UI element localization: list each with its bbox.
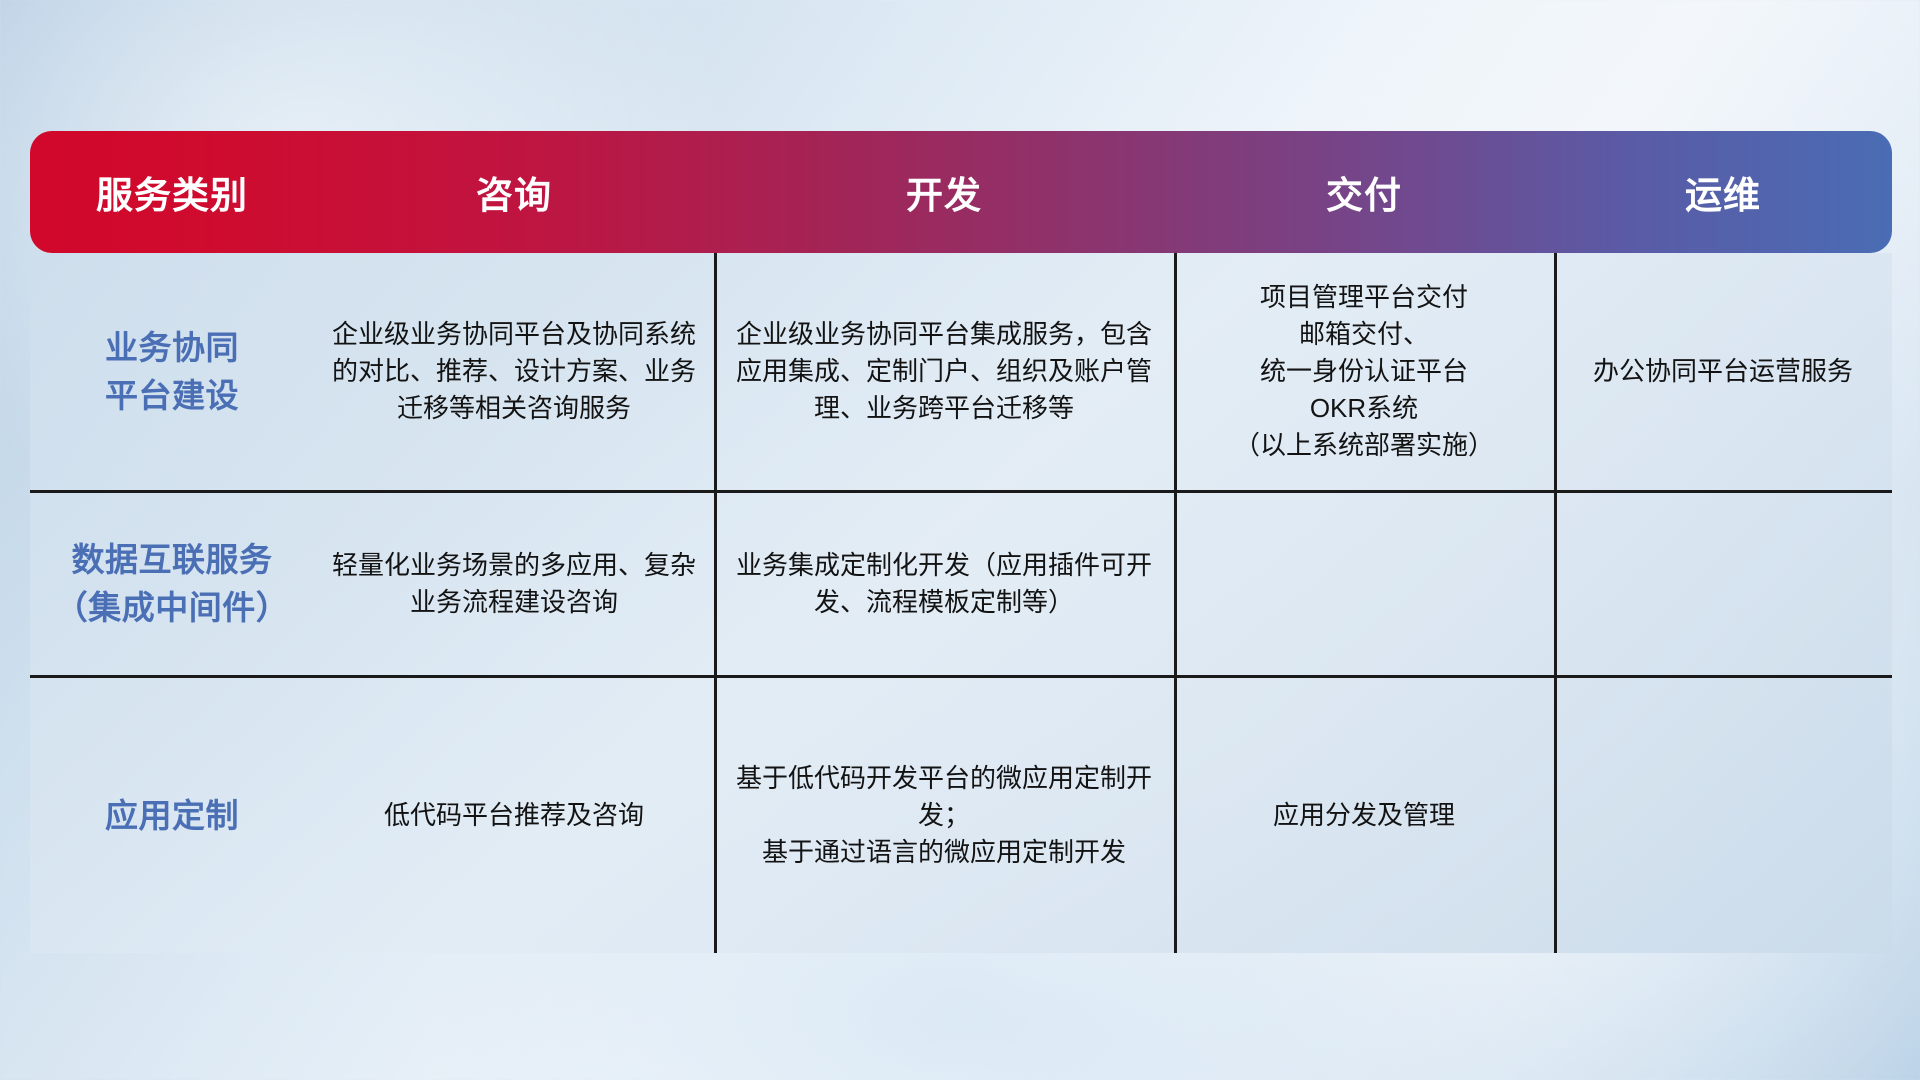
cell-text: 应用分发及管理 (1273, 797, 1455, 834)
cell-consulting: 企业级业务协同平台及协同系统的对比、推荐、设计方案、业务迁移等相关咨询服务 (314, 253, 714, 490)
table-body: 业务协同 平台建设 企业级业务协同平台及协同系统的对比、推荐、设计方案、业务迁移… (30, 253, 1892, 953)
table-row: 数据互联服务 （集成中间件） 轻量化业务场景的多应用、复杂业务流程建设咨询 业务… (30, 493, 1892, 678)
column-header-operations: 运维 (1554, 165, 1892, 219)
cell-operations (1554, 493, 1892, 675)
cell-development: 基于低代码开发平台的微应用定制开发； 基于通过语言的微应用定制开发 (714, 678, 1174, 953)
category-label-line: （集成中间件） (55, 584, 290, 632)
category-label: 业务协同 平台建设 (105, 324, 239, 420)
cell-text: 业务集成定制化开发（应用插件可开发、流程模板定制等） (728, 547, 1160, 621)
category-label: 数据互联服务 （集成中间件） (55, 536, 290, 632)
cell-consulting: 轻量化业务场景的多应用、复杂业务流程建设咨询 (314, 493, 714, 675)
cell-text: 项目管理平台交付 邮箱交付、 统一身份认证平台 OKR系统 （以上系统部署实施） (1234, 279, 1494, 464)
cell-delivery: 应用分发及管理 (1174, 678, 1554, 953)
cell-text: 基于低代码开发平台的微应用定制开发； 基于通过语言的微应用定制开发 (728, 760, 1160, 871)
row-category-cell: 业务协同 平台建设 (30, 253, 314, 490)
cell-operations (1554, 678, 1892, 953)
table-header-row: 服务类别 咨询 开发 交付 运维 (30, 131, 1892, 253)
cell-delivery (1174, 493, 1554, 675)
cell-text: 企业级业务协同平台及协同系统的对比、推荐、设计方案、业务迁移等相关咨询服务 (328, 316, 700, 427)
cell-text-line: 基于低代码开发平台的微应用定制开发； (728, 760, 1160, 834)
cell-development: 企业级业务协同平台集成服务，包含应用集成、定制门户、组织及账户管理、业务跨平台迁… (714, 253, 1174, 490)
column-header-development: 开发 (714, 165, 1174, 219)
cell-development: 业务集成定制化开发（应用插件可开发、流程模板定制等） (714, 493, 1174, 675)
row-category-cell: 数据互联服务 （集成中间件） (30, 493, 314, 675)
category-label-line: 数据互联服务 (55, 536, 290, 584)
column-header-consulting: 咨询 (314, 165, 714, 219)
category-label-line: 平台建设 (105, 372, 239, 420)
service-matrix-table: 服务类别 咨询 开发 交付 运维 业务协同 平台建设 企业级业务协同平台及协同系… (30, 131, 1892, 953)
cell-text-line: 基于通过语言的微应用定制开发 (728, 834, 1160, 871)
category-label-line: 业务协同 (105, 324, 239, 372)
cell-text-line: OKR系统 (1234, 390, 1494, 427)
cell-text: 办公协同平台运营服务 (1593, 353, 1853, 390)
table-row: 业务协同 平台建设 企业级业务协同平台及协同系统的对比、推荐、设计方案、业务迁移… (30, 253, 1892, 493)
cell-text-line: （以上系统部署实施） (1234, 427, 1494, 464)
cell-consulting: 低代码平台推荐及咨询 (314, 678, 714, 953)
cell-text: 企业级业务协同平台集成服务，包含应用集成、定制门户、组织及账户管理、业务跨平台迁… (728, 316, 1160, 427)
category-label: 应用定制 (105, 792, 239, 840)
column-header-delivery: 交付 (1174, 165, 1554, 219)
cell-text: 轻量化业务场景的多应用、复杂业务流程建设咨询 (328, 547, 700, 621)
cell-text-line: 项目管理平台交付 (1234, 279, 1494, 316)
category-label-line: 应用定制 (105, 792, 239, 840)
cell-text-line: 邮箱交付、 (1234, 316, 1494, 353)
row-category-cell: 应用定制 (30, 678, 314, 953)
column-header-category: 服务类别 (30, 165, 314, 219)
cell-text: 低代码平台推荐及咨询 (384, 797, 644, 834)
cell-text-line: 统一身份认证平台 (1234, 353, 1494, 390)
cell-operations: 办公协同平台运营服务 (1554, 253, 1892, 490)
table-row: 应用定制 低代码平台推荐及咨询 基于低代码开发平台的微应用定制开发； 基于通过语… (30, 678, 1892, 953)
cell-delivery: 项目管理平台交付 邮箱交付、 统一身份认证平台 OKR系统 （以上系统部署实施） (1174, 253, 1554, 490)
